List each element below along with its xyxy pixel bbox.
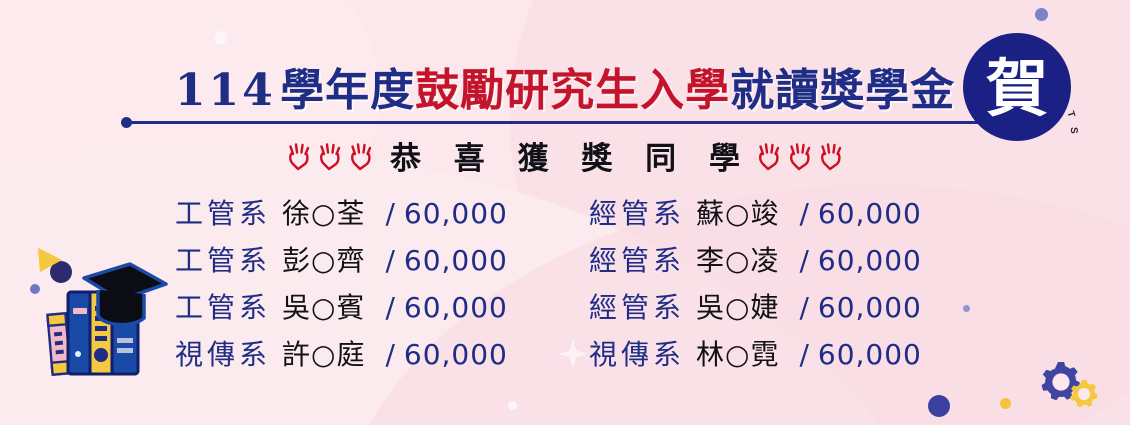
award-dept: 視傳系: [175, 338, 271, 371]
award-separator: /: [779, 244, 817, 277]
award-dept: 工管系: [175, 197, 271, 230]
decor-dot-yellow-bottom: [1000, 398, 1011, 409]
award-row: 工管系吳○賓/60,000: [175, 284, 508, 331]
decor-dot-periwinkle-top: [1035, 8, 1048, 21]
clapping-hand-icon: [285, 139, 313, 171]
decor-dot-white-bottom: [508, 401, 517, 410]
congrats-badge: 賀: [963, 33, 1071, 141]
award-dept: 工管系: [175, 291, 271, 324]
award-row: 經管系李○凌/60,000: [589, 237, 922, 284]
title-year: 114: [175, 62, 276, 120]
subtitle-text: 恭 喜 獲 獎 同 學: [379, 133, 751, 178]
decor-dot-navy-bottom: [928, 395, 950, 417]
gears-icon: [1036, 358, 1098, 410]
hands-group-right: [755, 139, 845, 171]
clapping-hand-icon: [817, 139, 845, 171]
award-amount: 60,000: [818, 291, 922, 324]
award-amount: 60,000: [404, 244, 508, 277]
award-name: 許○庭: [271, 338, 365, 371]
award-amount: 60,000: [404, 338, 508, 371]
award-column-left: 工管系徐○荃/60,000 工管系彭○齊/60,000 工管系吳○賓/60,00…: [175, 190, 508, 378]
award-name: 李○凌: [685, 244, 779, 277]
award-separator: /: [365, 291, 403, 324]
title-segment-red: 鼓勵研究生入學: [415, 62, 730, 120]
award-dept: 經管系: [589, 291, 685, 324]
award-separator: /: [365, 197, 403, 230]
award-separator: /: [779, 338, 817, 371]
award-row: 視傳系林○霓/60,000: [589, 331, 922, 378]
award-amount: 60,000: [818, 244, 922, 277]
clapping-hand-icon: [347, 139, 375, 171]
award-name: 彭○齊: [271, 244, 365, 277]
award-separator: /: [779, 291, 817, 324]
award-amount: 60,000: [818, 197, 922, 230]
award-name: 吳○賓: [271, 291, 365, 324]
award-amount: 60,000: [404, 197, 508, 230]
clapping-hand-icon: [786, 139, 814, 171]
scholarship-banner: 114 學年度鼓勵研究生入學就讀獎學金 · C O N G R A T S · …: [0, 0, 1130, 425]
award-amount: 60,000: [818, 338, 922, 371]
award-separator: /: [365, 338, 403, 371]
title-segment-blue-lead: 學年度: [280, 62, 415, 120]
clapping-hand-icon: [316, 139, 344, 171]
award-name: 蘇○竣: [685, 197, 779, 230]
award-name: 徐○荃: [271, 197, 365, 230]
award-name: 林○霓: [685, 338, 779, 371]
award-row: 視傳系許○庭/60,000: [175, 331, 508, 378]
award-column-right: 經管系蘇○竣/60,000 經管系李○凌/60,000 經管系吳○婕/60,00…: [589, 190, 922, 378]
award-name: 吳○婕: [685, 291, 779, 324]
award-row: 經管系蘇○竣/60,000: [589, 190, 922, 237]
title-rule: [127, 121, 1017, 124]
award-dept: 視傳系: [589, 338, 685, 371]
award-row: 工管系徐○荃/60,000: [175, 190, 508, 237]
award-amount: 60,000: [404, 291, 508, 324]
award-dept: 經管系: [589, 197, 685, 230]
banner-subtitle: 恭 喜 獲 獎 同 學: [0, 132, 1130, 178]
award-row: 經管系吳○婕/60,000: [589, 284, 922, 331]
badge-character: 賀: [986, 58, 1048, 120]
award-separator: /: [365, 244, 403, 277]
award-dept: 工管系: [175, 244, 271, 277]
award-row: 工管系彭○齊/60,000: [175, 237, 508, 284]
decor-dot-white-top: [214, 31, 227, 44]
award-separator: /: [779, 197, 817, 230]
clapping-hand-icon: [755, 139, 783, 171]
award-dept: 經管系: [589, 244, 685, 277]
title-segment-blue-tail: 就讀獎學金: [730, 62, 955, 120]
graduation-cap-books-icon: [14, 228, 174, 388]
hands-group-left: [285, 139, 375, 171]
